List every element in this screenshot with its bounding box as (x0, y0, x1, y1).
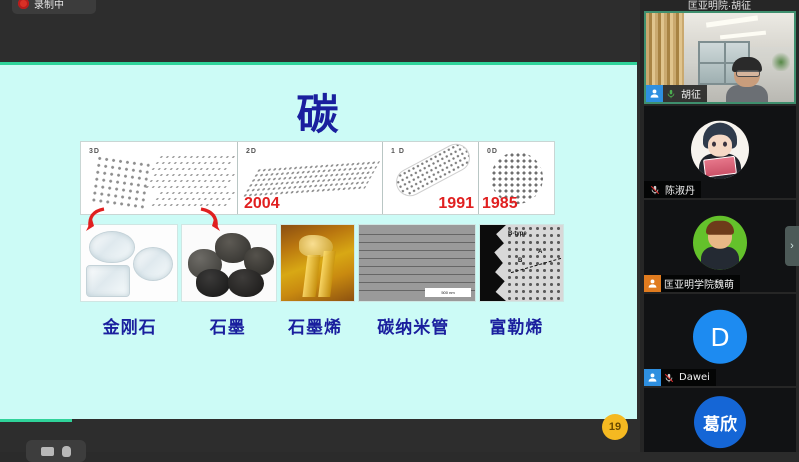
structure-cell-0d: 0D 1985 (479, 142, 554, 214)
dimension-label-0d: 0D (487, 148, 498, 155)
plant-decoration (772, 49, 790, 71)
sem-fiber (359, 266, 475, 267)
year-label-1985: 1985 (482, 195, 518, 213)
dimension-label-1d: 1 D (391, 148, 405, 155)
caption-graphene: 石墨烯 (276, 313, 353, 338)
participant-tile-chenshudan[interactable]: 陈淑丹 (644, 106, 796, 198)
avatar-eye-right (723, 142, 727, 147)
avatar: D (693, 310, 747, 364)
mic-on-icon (663, 88, 678, 100)
graphite-lump-4 (196, 269, 230, 297)
fullerene-stm-image: B-type B A (479, 224, 564, 302)
mic-muted-icon (644, 184, 662, 196)
avatar (691, 121, 749, 179)
participant-name: 陈淑丹 (662, 182, 695, 197)
afm-ribbon-2 (318, 251, 336, 297)
record-dot-icon (18, 0, 29, 9)
diamond-lattice-art (90, 154, 150, 211)
avatar-hair (706, 221, 734, 235)
sem-scale-label: 500 nm (441, 290, 454, 295)
red-arrow-to-graphite-icon (196, 207, 222, 233)
stage-bottom-bar (0, 419, 637, 452)
sem-fiber (359, 234, 475, 235)
chevron-right-icon: › (790, 240, 794, 252)
window-curtain (646, 13, 684, 85)
stm-label-b: B (518, 258, 522, 264)
participant-name: Dawei (676, 372, 710, 383)
avatar-body (701, 247, 739, 270)
graphene-lattice-art (241, 160, 380, 198)
afm-scan-bg (281, 225, 354, 301)
nanotube-sem-image: 500 nm (358, 224, 476, 302)
red-arrow-to-diamond-icon (84, 207, 110, 233)
participant-tile-gexin[interactable]: 葛欣 (644, 388, 796, 452)
avatar (693, 216, 747, 270)
carbon-allotrope-structure-strip: 3D 2D 2004 1 D 1991 (80, 141, 555, 215)
avatar-eye-left (712, 142, 716, 147)
sem-fiber (359, 282, 475, 283)
structure-cell-3d: 3D (81, 142, 238, 214)
sem-fiber (359, 250, 475, 251)
zoom-meeting-window: 录制中 碳 3D 2D (0, 0, 799, 452)
stm-scan-bg: B-type B A (480, 225, 563, 301)
sem-fiber (359, 258, 475, 259)
caption-nanotube: 碳纳米管 (354, 313, 473, 338)
participant-video-rail[interactable]: 匡亚明院·胡征 (640, 0, 799, 452)
micrograph-row: 500 nm B-type B A (80, 224, 564, 302)
speaker-torso (726, 85, 768, 104)
nameplate: 陈淑丹 (644, 181, 701, 198)
allotrope-caption-row: 金刚石 石墨 石墨烯 碳纳米管 富勒烯 (80, 313, 560, 338)
camera-icon[interactable] (41, 447, 54, 456)
nameplate: Dawei (644, 369, 716, 386)
collapse-panel-button[interactable]: › (785, 226, 799, 266)
sem-fiber (359, 242, 475, 243)
participant-name: 匡亚明学院魏萌 (661, 276, 734, 291)
sem-scale-bar: 500 nm (425, 288, 471, 297)
graphite-layer-art-3 (150, 190, 238, 206)
share-progress-indicator (0, 419, 72, 422)
shared-screen-stage[interactable]: 碳 3D 2D 2004 (0, 0, 637, 452)
participant-tile-dawei[interactable]: D Dawei (644, 294, 796, 386)
diamond-gem-1 (89, 231, 135, 263)
caption-graphite: 石墨 (179, 313, 276, 338)
diamond-photo-bg (81, 225, 177, 301)
graphite-photo (181, 224, 277, 302)
graphite-layer-art-2 (144, 172, 237, 188)
avatar: 葛欣 (694, 396, 746, 448)
stm-label-a: A (538, 249, 542, 255)
floating-toolbar[interactable] (26, 440, 86, 462)
person-icon (644, 369, 661, 386)
graphite-lump-5 (228, 269, 264, 297)
stm-dark-edge (480, 225, 506, 301)
ceiling-light-1 (706, 15, 758, 27)
caption-diamond: 金刚石 (80, 313, 179, 338)
year-label-1991: 1991 (438, 195, 474, 213)
person-icon (644, 275, 661, 292)
diamond-gem-3 (86, 265, 130, 297)
presentation-slide-area[interactable]: 碳 3D 2D 2004 (0, 62, 637, 419)
participant-tile-huzheng[interactable]: 胡征 (644, 11, 796, 104)
structure-cell-1d: 1 D 1991 (383, 142, 479, 214)
graphene-afm-image (280, 224, 355, 302)
stm-label-btype: B-type (508, 231, 527, 237)
nameplate: 匡亚明学院魏萌 (644, 275, 740, 292)
speaker-glasses (736, 70, 760, 77)
graphite-photo-bg (182, 225, 276, 301)
person-icon (646, 85, 663, 102)
participant-name: 胡征 (678, 86, 701, 101)
year-label-2004: 2004 (244, 195, 280, 213)
nameplate: 胡征 (646, 85, 707, 102)
graphite-layer-art-1 (150, 154, 238, 170)
mic-muted-icon (661, 372, 676, 384)
participant-tile-weimeng[interactable]: 匡亚明学院魏萌 (644, 200, 796, 292)
mic-icon[interactable] (62, 446, 71, 457)
diamond-photo (80, 224, 178, 302)
caption-fullerene: 富勒烯 (473, 313, 560, 338)
recording-label: 录制中 (34, 0, 64, 11)
recording-badge[interactable]: 录制中 (12, 0, 96, 14)
diamond-gem-2 (133, 247, 173, 281)
sem-scan-bg: 500 nm (359, 225, 475, 301)
slide-title: 碳 (0, 81, 637, 142)
meeting-header-title: 匡亚明院·胡征 (640, 0, 799, 11)
slide-page-badge: 19 (602, 414, 628, 440)
dimension-label-2d: 2D (246, 148, 257, 155)
speaker-figure (724, 59, 770, 104)
structure-cell-2d: 2D 2004 (238, 142, 383, 214)
ceiling-light-2 (720, 31, 766, 40)
sem-fiber (359, 274, 475, 275)
slide-canvas: 碳 3D 2D 2004 (0, 65, 637, 419)
